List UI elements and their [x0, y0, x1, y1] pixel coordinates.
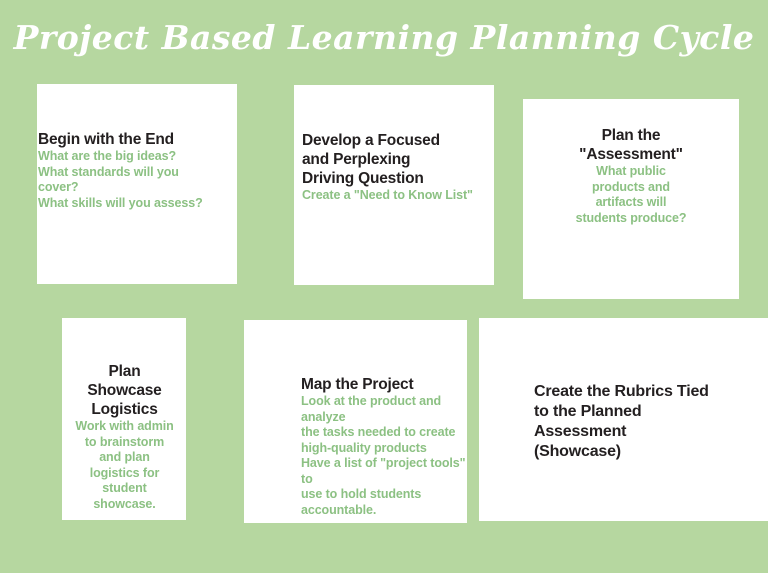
step-5-sub-line-3: high-quality products	[301, 441, 466, 457]
step-6-heading-line-2: Showcase	[70, 381, 179, 400]
step-3-text: Plan the "Assessment" What public produc…	[568, 126, 694, 226]
step-3-sub-line-1: What public	[568, 164, 694, 180]
step-5-text: Map the Project Look at the product and …	[301, 375, 466, 518]
step-6-text: Plan Showcase Logistics Work with admin …	[70, 362, 179, 512]
step-6-heading-line-1: Plan	[70, 362, 179, 381]
step-1-sub-line-2: What standards will you	[38, 165, 213, 181]
step-3-sub-line-2: products and	[568, 180, 694, 196]
step-6-sub-line-4: logistics for	[70, 466, 179, 482]
step-3-sub-line-4: students produce?	[568, 211, 694, 227]
step-2-heading-line-3: Driving Question	[302, 169, 482, 188]
step-3-sub-line-3: artifacts will	[568, 195, 694, 211]
step-5-sub-line-2: the tasks needed to create	[301, 425, 466, 441]
step-6-heading-line-3: Logistics	[70, 400, 179, 419]
step-4-heading-line-1: Create the Rubrics Tied	[534, 382, 759, 402]
step-3-heading-line-1: Plan the	[568, 126, 694, 145]
step-6-sub-line-2: to brainstorm	[70, 435, 179, 451]
step-5-heading: Map the Project	[301, 375, 466, 394]
step-5-sub-line-6: accountable.	[301, 503, 466, 519]
step-6-sub-line-3: and plan	[70, 450, 179, 466]
step-4-text: Create the Rubrics Tied to the Planned A…	[534, 382, 759, 462]
page-title: Project Based Learning Planning Cycle	[0, 18, 768, 57]
step-4-heading-line-3: Assessment	[534, 422, 759, 442]
step-4-heading-line-4: (Showcase)	[534, 442, 759, 462]
step-1-sub-line-4: What skills will you assess?	[38, 196, 213, 212]
step-6-sub-line-1: Work with admin	[70, 419, 179, 435]
step-3-heading-line-2: "Assessment"	[568, 145, 694, 164]
step-2-heading-line-2: and Perplexing	[302, 150, 482, 169]
step-6-sub-line-6: showcase.	[70, 497, 179, 513]
diagram-canvas: Project Based Learning Planning Cycle Be…	[0, 0, 768, 573]
step-1-text: Begin with the End What are the big idea…	[38, 130, 213, 211]
review-and-revise-label: review and revise	[58, 268, 223, 288]
step-2-heading-line-1: Develop a Focused	[302, 131, 482, 150]
step-1-heading: Begin with the End	[38, 130, 213, 149]
step-5-sub-line-4: Have a list of "project tools" to	[301, 456, 466, 487]
step-1-sub-line-3: cover?	[38, 180, 213, 196]
step-5-sub-line-1: Look at the product and analyze	[301, 394, 466, 425]
step-2-text: Develop a Focused and Perplexing Driving…	[302, 131, 482, 204]
step-4-heading-line-2: to the Planned	[534, 402, 759, 422]
step-5-sub-line-5: use to hold students	[301, 487, 466, 503]
step-1-sub-line-1: What are the big ideas?	[38, 149, 213, 165]
step-6-sub-line-5: student	[70, 481, 179, 497]
step-2-sub-line-1: Create a "Need to Know List"	[302, 188, 482, 204]
